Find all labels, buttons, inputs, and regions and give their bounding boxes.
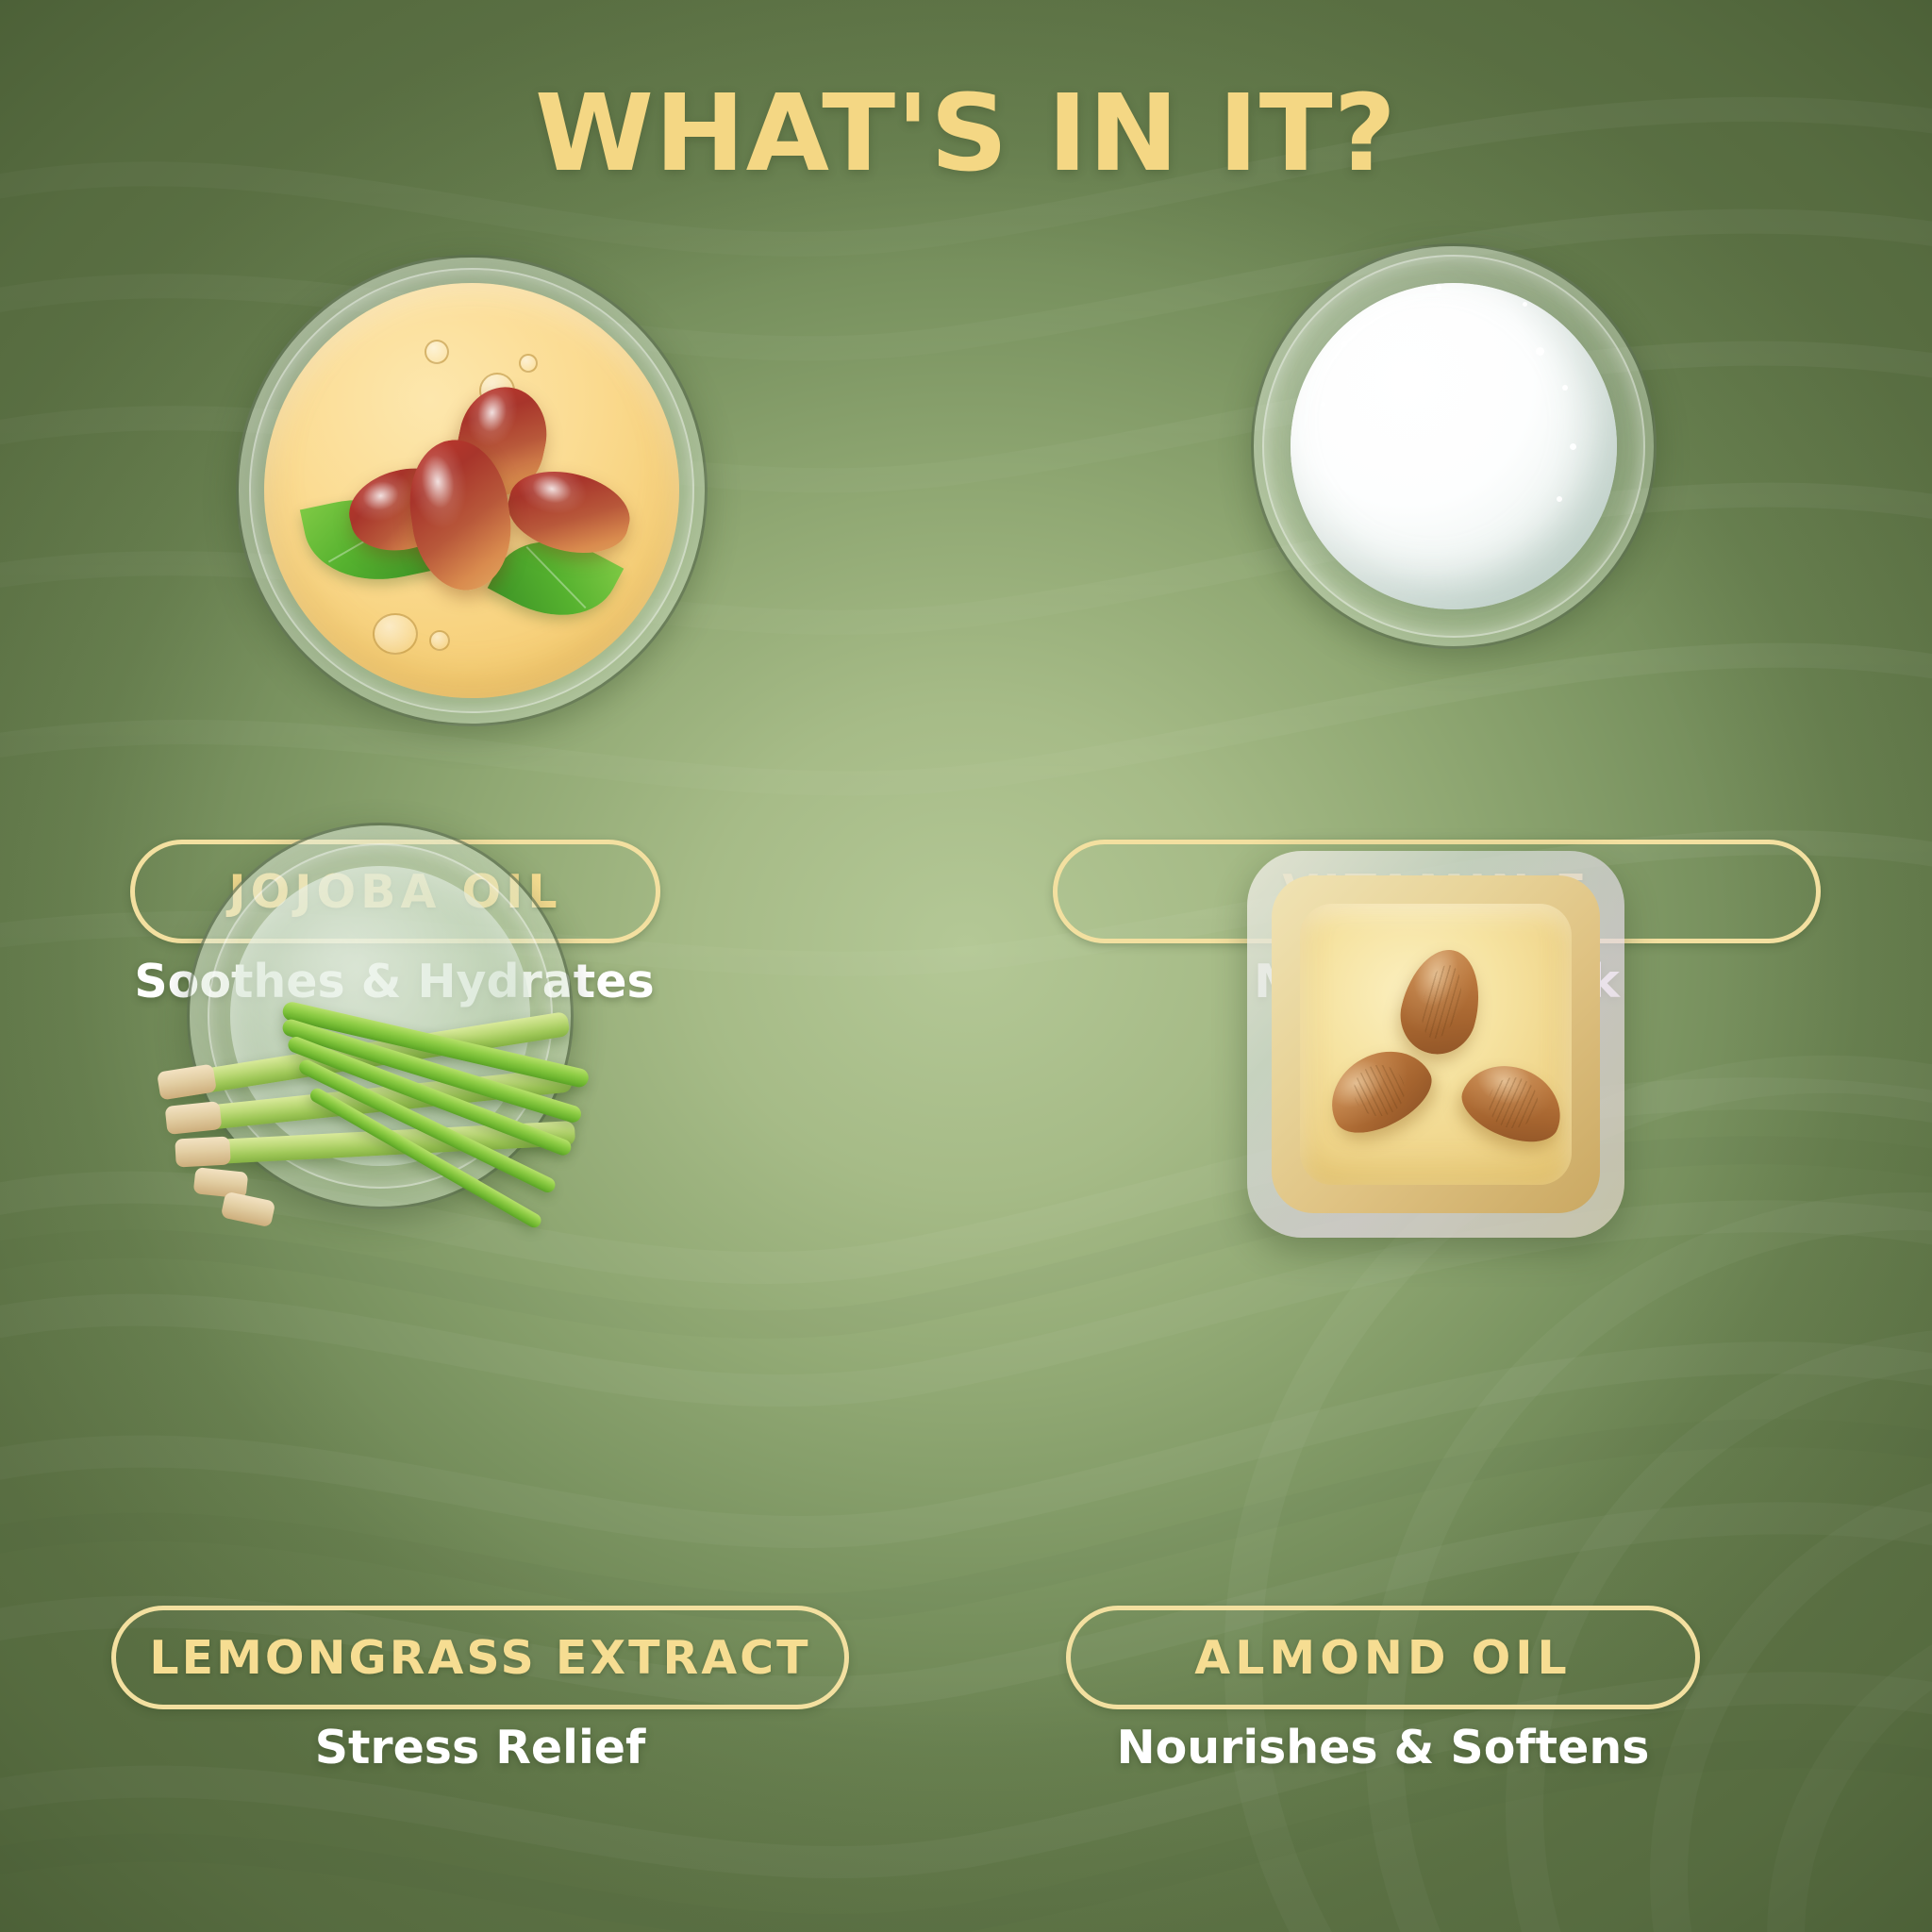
ingredient-card-almond-oil: ALMOND OIL Nourishes & Softens [962, 943, 1932, 1932]
ingredient-infographic: WHAT'S IN IT? JOJOBA OIL Soothes & Hy [0, 0, 1932, 1932]
jojoba-oil-dish-icon [236, 255, 708, 726]
ingredient-benefit-label: Nourishes & Softens [1032, 1721, 1734, 1774]
ingredient-badge-almond-oil[interactable]: ALMOND OIL [1066, 1606, 1700, 1709]
vitamin-e-dish-icon [1251, 243, 1657, 649]
ingredient-badge-lemongrass-extract[interactable]: LEMONGRASS EXTRACT [111, 1606, 849, 1709]
almond-oil-jar-icon [1247, 851, 1624, 1238]
ingredient-benefit-label: Stress Relief [111, 1721, 849, 1774]
ingredient-name-label: LEMONGRASS EXTRACT [149, 1631, 810, 1685]
ingredient-name-label: ALMOND OIL [1194, 1631, 1571, 1685]
vitamin-e-powder-icon [1291, 283, 1617, 609]
ingredient-card-lemongrass-extract: LEMONGRASS EXTRACT Stress Relief [0, 943, 887, 1932]
